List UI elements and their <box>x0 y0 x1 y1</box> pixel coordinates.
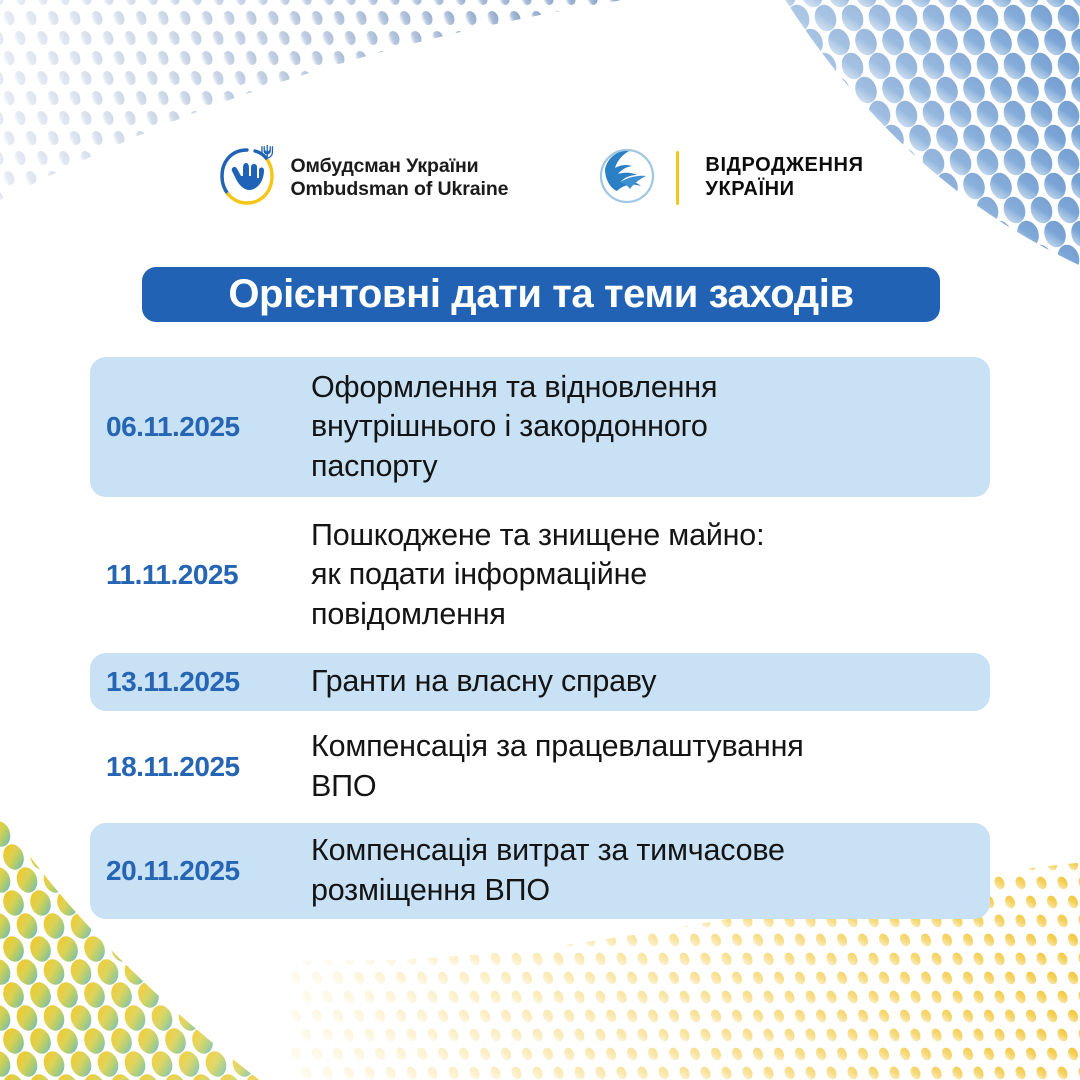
schedule-row-topic: Компенсація витрат за тимчасове розміщен… <box>311 831 976 910</box>
ombudsman-logo-text: Омбудсман України Ombudsman of Ukraine <box>290 155 508 201</box>
ombudsman-circle-hand-trident-logo-icon <box>216 143 278 214</box>
logo-bar: Омбудсман України Ombudsman of Ukraine В… <box>0 132 1080 224</box>
schedule-row: 13.11.2025Гранти на власну справу <box>90 653 990 711</box>
revival-name-line2: УКРАЇНИ <box>705 178 863 202</box>
schedule-row-topic: Оформлення та відновлення внутрішнього і… <box>311 368 976 487</box>
page-title-banner: Орієнтовні дати та теми заходів <box>142 267 940 322</box>
revival-logo-text: ВІДРОДЖЕННЯ УКРАЇНИ <box>705 154 863 201</box>
schedule-row-date: 18.11.2025 <box>106 751 311 783</box>
schedule-row-topic: Пошкоджене та знищене майно: як подати і… <box>311 516 976 635</box>
schedule-row-date: 06.11.2025 <box>106 411 311 443</box>
schedule-row-topic: Гранти на власну справу <box>311 662 976 702</box>
schedule-row-date: 11.11.2025 <box>106 559 311 591</box>
ombudsman-name-en: Ombudsman of Ukraine <box>290 178 508 201</box>
schedule-list: 06.11.2025Оформлення та відновлення внут… <box>90 357 990 927</box>
schedule-row-date: 20.11.2025 <box>106 855 311 887</box>
schedule-row: 20.11.2025Компенсація витрат за тимчасов… <box>90 823 990 919</box>
ombudsman-name-ua: Омбудсман України <box>290 155 508 178</box>
revival-logo-group: ВІДРОДЖЕННЯ УКРАЇНИ <box>596 145 863 212</box>
page-title: Орієнтовні дати та теми заходів <box>228 272 853 317</box>
swallow-bird-circle-logo-icon <box>596 145 658 212</box>
schedule-row-date: 13.11.2025 <box>106 666 311 698</box>
schedule-row: 06.11.2025Оформлення та відновлення внут… <box>90 357 990 497</box>
infographic-canvas: Омбудсман України Ombudsman of Ukraine В… <box>0 0 1080 1080</box>
schedule-row: 18.11.2025Компенсація за працевлаштуванн… <box>90 719 990 815</box>
revival-name-line1: ВІДРОДЖЕННЯ <box>705 154 863 178</box>
schedule-row-topic: Компенсація за працевлаштування ВПО <box>311 727 976 806</box>
logo-divider <box>676 151 679 205</box>
ombudsman-logo-group: Омбудсман України Ombudsman of Ukraine <box>216 143 508 214</box>
schedule-row: 11.11.2025Пошкоджене та знищене майно: я… <box>90 505 990 645</box>
